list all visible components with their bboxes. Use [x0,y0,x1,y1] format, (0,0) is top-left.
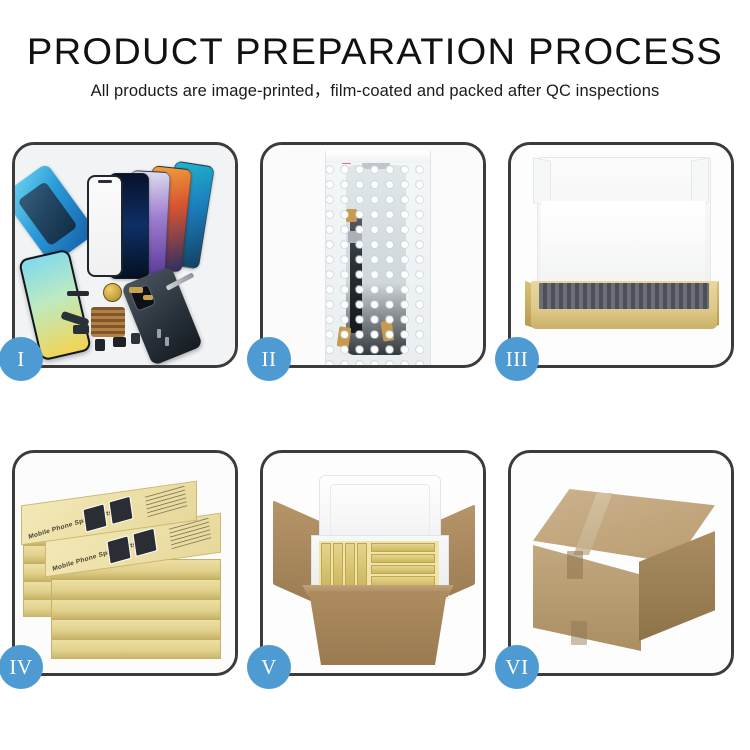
step-badge-3: III [495,337,539,381]
carton-front-icon [303,591,453,665]
spare-parts-group [73,285,183,355]
box-product-image [132,528,157,557]
part-bar-icon [131,333,140,344]
process-step-panel-1: I [12,142,238,368]
box-stack-group: Mobile Phone Spare Parts Mobile Phone Sp… [21,467,235,667]
box-product-image [82,503,107,532]
stacked-box [51,579,221,599]
box-product-image [106,535,131,564]
screen-glass-icon [87,175,123,277]
bubble-wrap-bag-icon [325,151,431,365]
phone-notch-icon [98,180,112,183]
screw-icon [157,329,161,338]
bubble-texture-icon [326,151,430,365]
part-bar-icon [113,337,126,347]
foam-sheet-icon [541,201,705,287]
carton-seam-icon [571,621,587,645]
page-subtitle: All products are image-printed，film-coat… [0,80,750,102]
part-bar-icon [73,325,89,334]
step-badge-5: V [247,645,291,689]
box-flap-icon [533,157,551,206]
phone-fan-group [85,163,235,273]
step-2-image [263,145,483,365]
step-badge-1: I [0,337,43,381]
step-6-image [511,453,731,673]
speaker-module-icon [103,283,122,302]
process-step-grid: I II [12,142,738,676]
stacked-box [51,599,221,619]
carton-left-face [533,545,641,651]
page-title: PRODUCT PREPARATION PROCESS [0,30,750,74]
process-step-panel-3: III [508,142,734,368]
process-step-panel-2: II [260,142,486,368]
box-flap-icon [691,157,709,206]
step-badge-4: IV [0,645,43,689]
yellow-box-item [371,543,435,552]
page-header: PRODUCT PREPARATION PROCESS All products… [0,0,750,102]
yellow-box-item [333,543,343,587]
step-badge-6: VI [495,645,539,689]
stacked-box [51,639,221,659]
carton-seam-icon [567,551,583,579]
part-bar-icon [95,339,105,351]
process-step-panel-6: VI [508,450,734,676]
yellow-box-item [371,565,435,574]
step-3-image [511,145,731,365]
wrapped-screens-icon [539,283,709,309]
screw-icon [165,337,169,346]
box-product-image [108,496,133,525]
yellow-boxes-group [319,541,439,589]
process-step-panel-4: Mobile Phone Spare Parts Mobile Phone Sp… [12,450,238,676]
part-bar-icon [129,287,143,293]
step-5-image [263,453,483,673]
yellow-box-item [371,554,435,563]
chip-array-icon [91,307,125,337]
yellow-box-item [345,543,355,587]
part-bar-icon [67,291,89,296]
part-bar-icon [143,295,153,300]
bag-seal-icon [326,151,430,163]
yellow-box-item [321,543,331,587]
yellow-box-item [357,543,367,587]
step-1-image [15,145,235,365]
box-spec-lines [145,485,188,517]
step-4-image: Mobile Phone Spare Parts Mobile Phone Sp… [15,453,235,673]
process-step-panel-5: V [260,450,486,676]
step-badge-2: II [247,337,291,381]
stacked-box [51,619,221,639]
